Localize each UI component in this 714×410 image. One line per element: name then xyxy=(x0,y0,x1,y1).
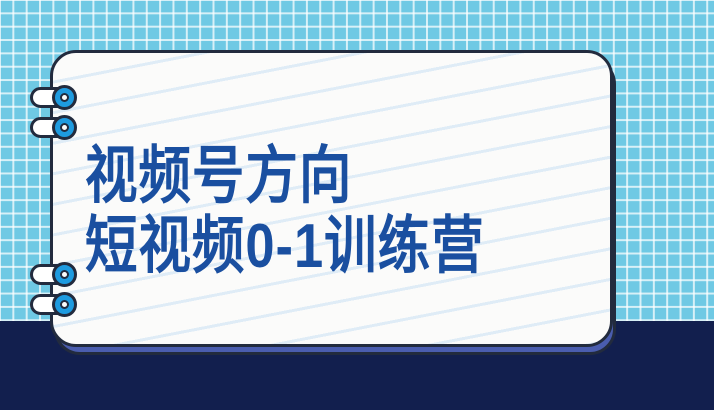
binder-ring-hoop xyxy=(52,115,77,140)
notebook-card: 视频号方向 短视频0-1训练营 xyxy=(50,50,613,347)
poster-root: 视频号方向 短视频0-1训练营 xyxy=(0,0,714,410)
binder-ring-icon-1 xyxy=(30,87,76,108)
binder-ring-icon-3 xyxy=(30,264,76,285)
binder-ring-icon-2 xyxy=(30,117,76,138)
binder-ring-hole xyxy=(60,123,69,132)
binder-ring-hole xyxy=(60,93,69,102)
binder-ring-icon-4 xyxy=(30,294,76,315)
binder-ring-hole xyxy=(60,270,69,279)
title-line-1: 视频号方向 xyxy=(85,145,611,209)
title-block: 视频号方向 短视频0-1训练营 xyxy=(53,145,613,269)
binder-ring-hoop xyxy=(52,85,77,110)
binder-ring-hole xyxy=(60,300,69,309)
binder-ring-hoop xyxy=(52,292,77,317)
binder-ring-hoop xyxy=(52,262,77,287)
title-line-2: 短视频0-1训练营 xyxy=(85,215,611,279)
